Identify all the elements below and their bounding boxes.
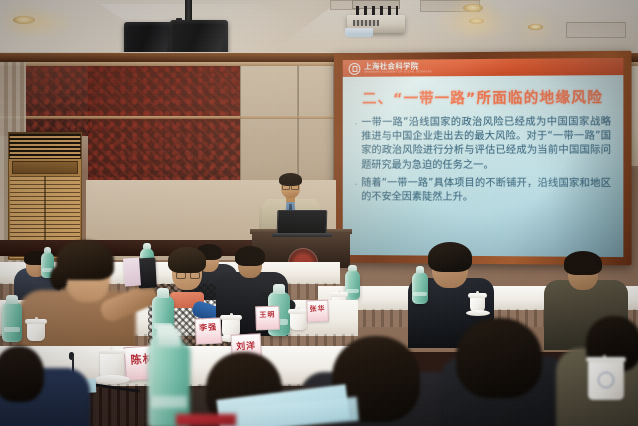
presentation-slide: 上海社会科学院 SHANGHAI ACADEMY OF SOCIAL SCIEN… [343,58,624,257]
audience-hair [168,247,206,273]
name-placard-text: 刘洋 [232,338,261,352]
slide-org-names: 上海社会科学院 SHANGHAI ACADEMY OF SOCIAL SCIEN… [364,62,431,74]
downlight-icon [528,24,543,30]
podium-laptop-base [272,233,332,237]
projection-screen: 上海社会科学院 SHANGHAI ACADEMY OF SOCIAL SCIEN… [334,51,632,266]
slide-bullet-text: 随着“一带一路”具体项目的不断铺开，沿线国家和地区的不安全因素陡然上升。 [361,177,611,206]
teacup[interactable] [27,322,45,341]
podium-laptop[interactable] [277,210,328,234]
slide-header-bar: 上海社会科学院 SHANGHAI ACADEMY OF SOCIAL SCIEN… [343,58,624,77]
saucer [466,310,490,316]
audience-hair [564,251,602,275]
downlight-icon [13,16,35,24]
cup-emblem-icon [598,372,614,388]
paper-sheet[interactable] [123,257,141,286]
chair-rail [88,116,240,119]
name-placard-text: 王明 [256,310,278,321]
audience-hair [428,242,472,272]
name-placard: 张华 [306,300,329,323]
slide-title: 二、“一带一路”所面临的地缘风险 [343,86,624,108]
teacup[interactable] [290,312,307,330]
slide-bullet: · 一带一路”沿线国家的政治风险已经成为中国国家战略推进与中国企业走出去的最大风… [354,116,611,173]
downlight-icon [463,4,483,12]
bullet-marker-icon: · [354,177,357,205]
foreground-person-head [0,346,44,402]
thermos-bottle[interactable] [412,272,428,304]
thermos-bottle[interactable] [2,302,22,342]
slide-bullet: · 随着“一带一路”具体项目的不断铺开，沿线国家和地区的不安全因素陡然上升。 [354,177,611,206]
projector-lens [345,28,373,37]
saucer [94,375,130,384]
name-placard-text: 张华 [307,303,327,314]
ac-grille [9,133,81,159]
name-placard: 王明 [255,306,280,331]
speaker-mount-pole [185,0,192,22]
sass-emblem-icon [349,62,361,74]
foreground-person-head [456,318,542,398]
audience-glasses [176,272,200,279]
chair-rail [240,116,334,119]
screen-surface: 上海社会科学院 SHANGHAI ACADEMY OF SOCIAL SCIEN… [343,58,624,257]
slide-body: · 一带一路”沿线国家的政治风险已经成为中国国家战略推进与中国企业走出去的最大风… [354,116,611,210]
ceiling-panel [566,22,626,38]
name-placard: 李强 [195,317,222,344]
conference-photo: 上海社会科学院 SHANGHAI ACADEMY OF SOCIAL SCIEN… [0,0,638,426]
audience-hair [235,246,265,266]
foreground-scarf [176,414,236,426]
audience-hair-bun [50,266,68,290]
presenter-glasses [282,184,299,188]
ac-control-panel[interactable] [12,161,78,174]
downlight-icon [469,18,484,24]
slide-bullet-text: 一带一路”沿线国家的政治风险已经成为中国国家战略推进与中国企业走出去的最大风险。… [361,116,611,173]
bullet-marker-icon: · [354,116,357,172]
name-placard-text: 李强 [196,322,221,334]
slide-org-en: SHANGHAI ACADEMY OF SOCIAL SCIENCES [364,71,431,74]
